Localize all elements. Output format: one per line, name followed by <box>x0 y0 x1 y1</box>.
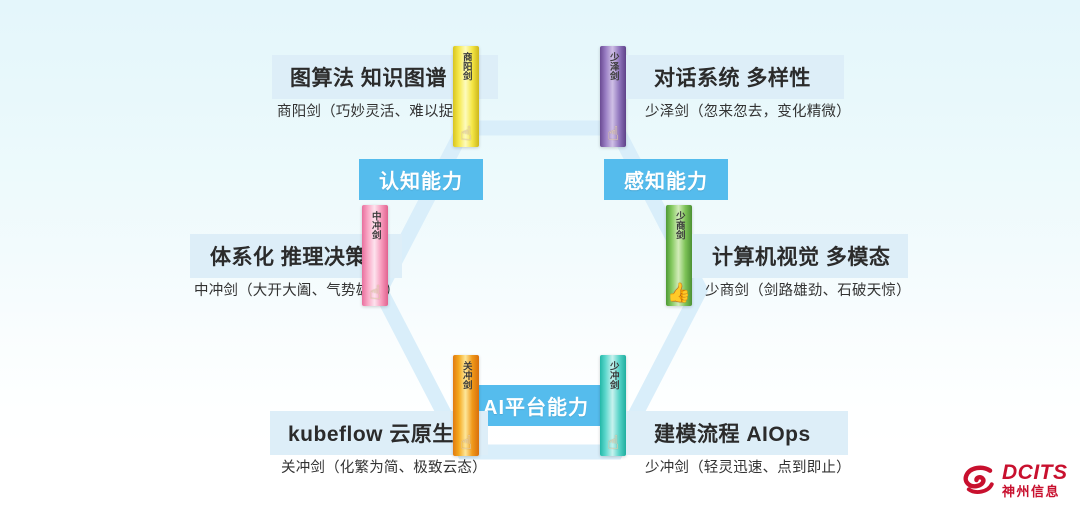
hexagon-connector <box>0 0 1080 519</box>
swoosh-icon <box>962 463 996 497</box>
node-title-text: 建模流程 AIOps <box>654 418 811 448</box>
capability-label: 认知能力 <box>379 165 463 194</box>
sword-icon-guanchongjian: 关冲剑 ☝ <box>453 355 479 456</box>
node-subtitle-modeling-aiops: 少冲剑（轻灵迅速、点到即止） <box>645 456 851 477</box>
node-title-text: kubeflow 云原生 <box>288 418 454 448</box>
node-title-text: 对话系统 多样性 <box>654 62 811 92</box>
sword-icon-shaochongjian: 少冲剑 ☝ <box>600 355 626 456</box>
hand-gesture-icon: ☝ <box>460 434 472 453</box>
node-subtitle-computer-vision: 少商剑（剑路雄劲、石破天惊） <box>705 279 911 300</box>
sword-label: 少商剑 <box>674 211 684 240</box>
sword-label: 中冲剑 <box>370 211 380 240</box>
hand-gesture-icon: ☝ <box>607 125 619 144</box>
node-subtitle-text: 商阳剑（巧妙灵活、难以捉摸） <box>277 104 483 120</box>
sword-icon-zhongchongjian: 中冲剑 ☝ <box>362 205 388 306</box>
node-subtitle-text: 少泽剑（忽来忽去，变化精微） <box>645 104 851 120</box>
hand-gesture-icon: ☝ <box>607 434 619 453</box>
capability-label: AI平台能力 <box>483 391 589 420</box>
node-subtitle-kubeflow: 关冲剑（化繁为简、极致云态） <box>281 456 487 477</box>
hand-gesture-icon: ☝ <box>460 125 472 144</box>
sword-label: 商阳剑 <box>461 52 471 81</box>
capability-label: 感知能力 <box>624 165 708 194</box>
sword-icon-shaozejian: 少泽剑 ☝ <box>600 46 626 147</box>
hand-gesture-icon: ☝ <box>369 284 381 303</box>
sword-icon-shaoshangjian: 少商剑 👍 <box>666 205 692 306</box>
logo-text-block: DCITS 神州信息 <box>1002 462 1068 498</box>
capability-pill-perceptive[interactable]: 感知能力 <box>604 159 728 200</box>
capability-pill-platform[interactable]: AI平台能力 <box>471 385 601 426</box>
node-title-dialogue-system: 对话系统 多样性 <box>626 55 844 99</box>
node-title-text: 体系化 推理决策 <box>210 241 367 271</box>
node-subtitle-text: 少商剑（剑路雄劲、石破天惊） <box>705 283 911 299</box>
node-title-modeling-aiops: 建模流程 AIOps <box>626 411 848 455</box>
node-title-computer-vision: 计算机视觉 多模态 <box>692 234 908 278</box>
sword-label: 少泽剑 <box>608 52 618 81</box>
sword-icon-shangyangjian: 商阳剑 ☝ <box>453 46 479 147</box>
sword-label: 关冲剑 <box>461 361 471 390</box>
logo-en-text: DCITS <box>1002 462 1068 483</box>
node-title-text: 计算机视觉 多模态 <box>712 241 890 271</box>
capability-pill-cognitive[interactable]: 认知能力 <box>359 159 483 200</box>
logo-cn-text: 神州信息 <box>1002 485 1068 498</box>
node-subtitle-knowledge-graph: 商阳剑（巧妙灵活、难以捉摸） <box>277 100 483 121</box>
sword-label: 少冲剑 <box>608 361 618 390</box>
node-title-text: 图算法 知识图谱 <box>290 62 447 92</box>
hand-gesture-icon: 👍 <box>667 284 691 303</box>
node-subtitle-dialogue-system: 少泽剑（忽来忽去，变化精微） <box>645 100 851 121</box>
node-subtitle-text: 关冲剑（化繁为简、极致云态） <box>281 460 487 476</box>
diagram-canvas: 图算法 知识图谱 商阳剑（巧妙灵活、难以捉摸） 商阳剑 ☝ 少泽剑 ☝ 对话系统… <box>0 0 1080 519</box>
node-subtitle-text: 少冲剑（轻灵迅速、点到即止） <box>645 460 851 476</box>
company-logo: DCITS 神州信息 <box>962 462 1068 498</box>
